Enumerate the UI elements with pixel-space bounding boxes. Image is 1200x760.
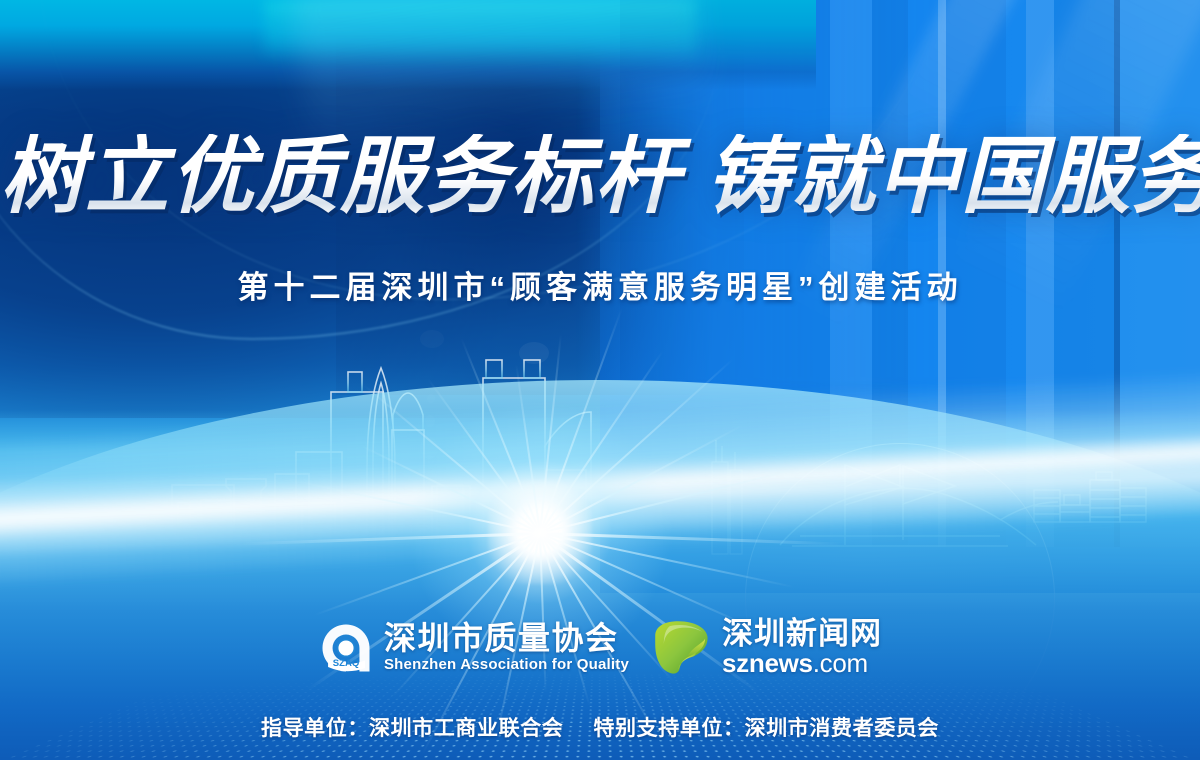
footer-credits: 指导单位：深圳市工商业联合会特别支持单位：深圳市消费者委员会: [0, 712, 1200, 742]
support-label: 特别支持单位：: [593, 717, 744, 740]
sznews-leaf-icon: [651, 620, 713, 676]
szaq-name-cn: 深圳市质量协会: [384, 622, 629, 656]
logo-row: SZAQ 深圳市质量协会 Shenzhen Association for Qu…: [0, 618, 1200, 677]
logo-sznews[interactable]: 深圳新闻网 sznews.com: [651, 618, 882, 677]
page-title: 树立优质服务标杆铸就中国服务品牌: [0, 134, 1200, 218]
guidance-value: 深圳市工商业联合会: [369, 717, 563, 740]
sznews-domain: sznews.com: [722, 650, 882, 677]
szaq-mark-text: SZAQ: [333, 657, 359, 668]
szaq-name-en: Shenzhen Association for Quality: [384, 656, 629, 673]
banner-content: 树立优质服务标杆铸就中国服务品牌 第十二届深圳市“顾客满意服务明星”创建活动 S…: [0, 0, 1200, 760]
support-value: 深圳市消费者委员会: [745, 717, 939, 740]
sznews-domain-bold: sznews: [722, 648, 813, 678]
sznews-name-cn: 深圳新闻网: [722, 618, 882, 651]
guidance-label: 指导单位：: [261, 717, 369, 740]
headline-part-1: 树立优质服务标杆: [0, 129, 680, 223]
logo-shenzhen-association-for-quality[interactable]: SZAQ 深圳市质量协会 Shenzhen Association for Qu…: [318, 620, 629, 676]
sznews-logo-text: 深圳新闻网 sznews.com: [722, 618, 882, 677]
szaq-logo-icon: SZAQ: [318, 620, 374, 676]
headline-part-2: 铸就中国服务品牌: [706, 129, 1200, 223]
page-subtitle: 第十二届深圳市“顾客满意服务明星”创建活动: [0, 262, 1200, 307]
szaq-logo-text: 深圳市质量协会 Shenzhen Association for Quality: [384, 622, 629, 674]
promotional-banner: 树立优质服务标杆铸就中国服务品牌 第十二届深圳市“顾客满意服务明星”创建活动 S…: [0, 0, 1200, 760]
sznews-domain-tld: .com: [813, 648, 868, 678]
